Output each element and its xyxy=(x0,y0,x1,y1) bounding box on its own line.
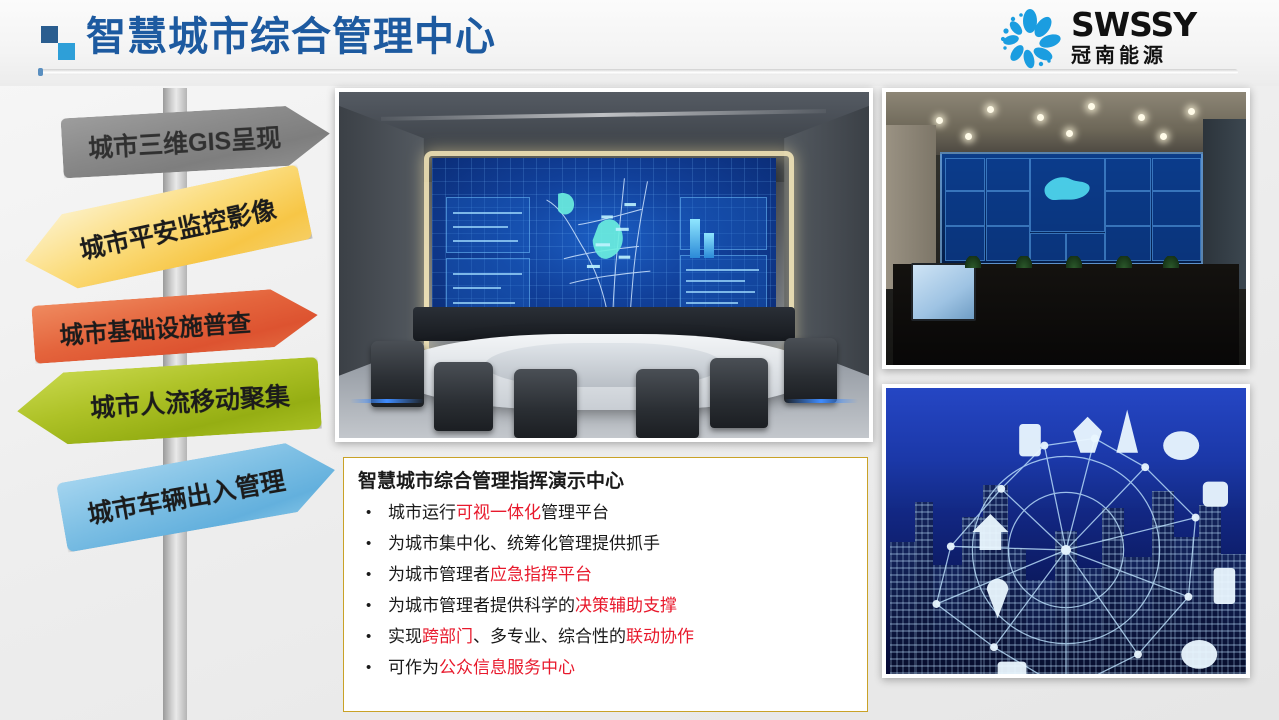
plain-text: 为城市管理者 xyxy=(388,565,490,584)
plain-text: 实现 xyxy=(388,627,422,646)
sign-label: 城市平安监控影像 xyxy=(76,190,279,267)
sign-label: 城市基础设施普查 xyxy=(58,302,252,350)
title-divider-cap xyxy=(38,68,43,76)
plain-text: 城市运行 xyxy=(388,503,456,522)
list-item: 为城市集中化、统筹化管理提供抓手 xyxy=(358,528,853,559)
highlighted-text: 应急指挥平台 xyxy=(490,565,592,584)
photo-content xyxy=(886,388,1246,674)
photo-content xyxy=(886,92,1246,365)
slide-header: 智慧城市综合管理中心 xyxy=(0,0,1279,86)
logo-text-block: SWSSY 冠南能源 xyxy=(1071,7,1257,69)
list-item: 为城市管理者应急指挥平台 xyxy=(358,559,853,590)
list-item: 城市运行可视一体化管理平台 xyxy=(358,497,853,528)
square-light xyxy=(58,43,75,60)
logo-wordmark: SWSSY xyxy=(1071,7,1257,43)
logo-subtitle: 冠南能源 xyxy=(1071,43,1257,69)
plain-text: 可作为 xyxy=(388,658,439,677)
photo-content xyxy=(339,92,869,438)
slide-root: 智慧城市综合管理中心 xyxy=(0,0,1279,720)
sign-vehicle-access[interactable]: 城市车辆出入管理 xyxy=(56,435,341,552)
highlighted-text: 联动协作 xyxy=(626,627,694,646)
highlighted-text: 公众信息服务中心 xyxy=(439,658,575,677)
command-center-round-table-photo xyxy=(335,88,873,442)
panel-title: 智慧城市综合管理指挥演示中心 xyxy=(358,468,853,495)
list-item: 实现跨部门、多专业、综合性的联动协作 xyxy=(358,621,853,652)
page-title: 智慧城市综合管理中心 xyxy=(86,8,496,66)
square-dark xyxy=(41,26,58,43)
description-panel: 智慧城市综合管理指挥演示中心 城市运行可视一体化管理平台 为城市集中化、统筹化管… xyxy=(343,457,868,712)
highlighted-text: 跨部门 xyxy=(422,627,473,646)
sign-crowd-movement[interactable]: 城市人流移动聚集 xyxy=(15,357,322,447)
list-item: 为城市管理者提供科学的决策辅助支撑 xyxy=(358,590,853,621)
highlighted-text: 可视一体化 xyxy=(456,503,541,522)
plain-text: 管理平台 xyxy=(541,503,609,522)
water-drop-petals-icon xyxy=(997,9,1063,71)
plain-text: 、多专业、综合性的 xyxy=(473,627,626,646)
plain-text: 为城市管理者提供科学的 xyxy=(388,596,575,615)
sign-label: 城市车辆出入管理 xyxy=(85,461,288,531)
brand-logo: SWSSY 冠南能源 xyxy=(997,4,1257,74)
sign-label: 城市三维GIS呈现 xyxy=(87,118,282,165)
highlighted-text: 决策辅助支撑 xyxy=(575,596,677,615)
two-squares-icon xyxy=(41,26,81,60)
signpost-group: 城市三维GIS呈现 城市平安监控影像 城市基础设施普查 城市人流移动聚集 城市车… xyxy=(0,88,340,720)
sign-infrastructure-survey[interactable]: 城市基础设施普查 xyxy=(31,286,319,364)
smart-city-iot-network-photo xyxy=(882,384,1250,678)
panel-bullet-list: 城市运行可视一体化管理平台 为城市集中化、统筹化管理提供抓手 为城市管理者应急指… xyxy=(358,497,853,683)
list-item: 可作为公众信息服务中心 xyxy=(358,652,853,683)
plain-text: 为城市集中化、统筹化管理提供抓手 xyxy=(388,534,660,553)
sign-label: 城市人流移动聚集 xyxy=(89,377,291,425)
led-dashboard-wall-room-photo xyxy=(882,88,1250,369)
